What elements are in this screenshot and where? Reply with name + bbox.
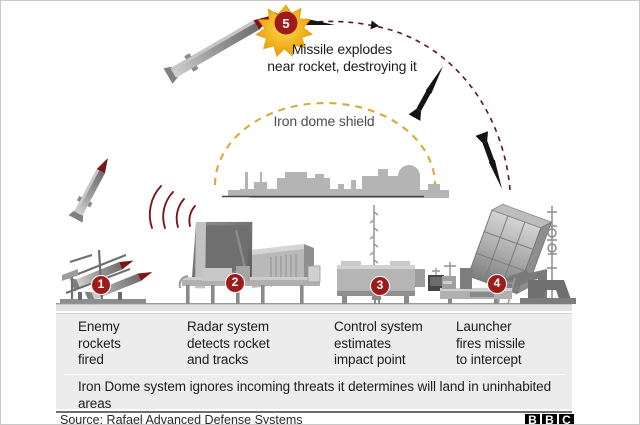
caption-row: Enemy rockets fired Radar system detects… <box>56 314 572 374</box>
explosion-label: Missile explodes near rocket, destroying… <box>242 41 442 75</box>
control-system-icon <box>337 205 444 304</box>
bbc-logo: B B C <box>525 414 574 425</box>
shield-label: Iron dome shield <box>229 113 419 130</box>
bbc-logo-letter-3: C <box>559 414 574 425</box>
caption-step-3-line3: impact point <box>334 352 474 369</box>
caption-step-2: Radar system detects rocket and tracks <box>187 319 327 369</box>
missile-launcher-icon <box>440 202 576 304</box>
city-skyline-icon <box>228 165 449 198</box>
interceptor-missile-low-icon <box>475 131 508 191</box>
step-badge-5-number: 5 <box>269 7 303 41</box>
bbc-logo-letter-1: B <box>525 414 540 425</box>
step-badge-4: 4 <box>487 274 507 294</box>
caption-step-1: Enemy rockets fired <box>78 319 198 369</box>
caption-step-2-line1: Radar system <box>187 319 327 336</box>
caption-step-1-line1: Enemy <box>78 319 198 336</box>
step-badge-5: 5 <box>269 7 303 41</box>
caption-step-1-line2: rockets <box>78 336 198 353</box>
radar-waves-icon <box>150 186 195 228</box>
explosion-label-line2: near rocket, destroying it <box>242 58 442 75</box>
step-badge-1: 1 <box>91 275 111 295</box>
ground-line <box>56 303 572 311</box>
caption-step-4-line2: fires missile <box>456 336 586 353</box>
caption-step-1-line3: fired <box>78 352 198 369</box>
caption-divider <box>64 374 564 375</box>
radar-system-icon <box>180 216 320 304</box>
caption-step-4-line3: to intercept <box>456 352 586 369</box>
caption-step-4: Launcher fires missile to intercept <box>456 319 586 369</box>
iron-dome-infographic: 1 2 3 4 5 Missile explodes near rocket, … <box>0 0 640 425</box>
step-badge-2: 2 <box>225 273 245 293</box>
caption-step-3-line1: Control system <box>334 319 474 336</box>
explosion-label-line1: Missile explodes <box>242 41 442 58</box>
caption-step-3-line2: estimates <box>334 336 474 353</box>
bbc-logo-letter-2: B <box>542 414 557 425</box>
caption-step-2-line2: detects rocket <box>187 336 327 353</box>
step-badge-3: 3 <box>370 276 390 296</box>
source-text: Source: Rafael Advanced Defense Systems <box>60 413 303 425</box>
caption-step-2-line3: and tracks <box>187 352 327 369</box>
footnote-text: Iron Dome system ignores incoming threat… <box>78 379 558 412</box>
caption-step-3: Control system estimates impact point <box>334 319 474 369</box>
caption-step-4-line1: Launcher <box>456 319 586 336</box>
caption-panel: Enemy rockets fired Radar system detects… <box>56 313 572 409</box>
